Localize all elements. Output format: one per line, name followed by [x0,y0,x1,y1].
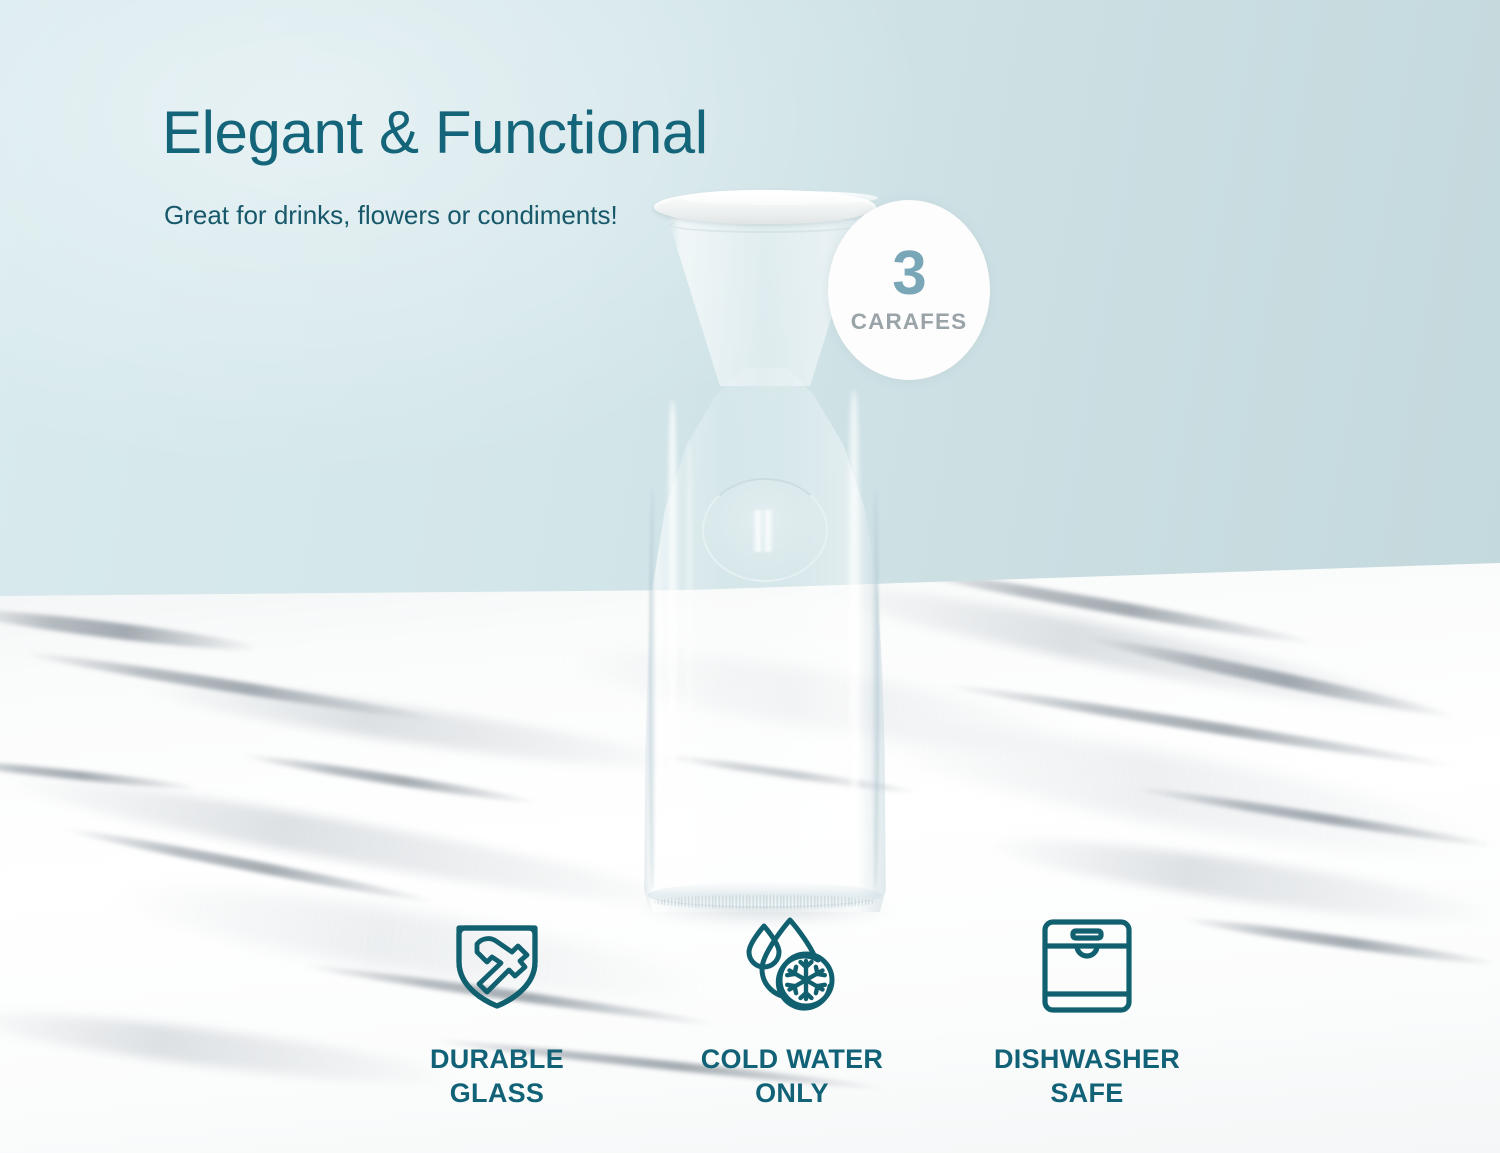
dishwasher-icon [1035,912,1139,1020]
page-title: Elegant & Functional [162,98,708,167]
feature-label: DISHWASHER SAFE [994,1042,1180,1110]
water-droplet-snowflake-icon [738,912,846,1020]
badge-label: CARAFES [851,309,967,335]
carafe-left-highlight-secondary [686,440,693,790]
white-plastic-lid [654,190,876,224]
lid-top-surface [680,191,878,205]
carafe-base-foot-texture [654,895,876,909]
feature-list: DURABLE GLASS [352,912,1232,1110]
carafe-left-edge [649,490,656,890]
feature-label: DURABLE GLASS [430,1042,564,1110]
shield-hammer-icon [445,912,549,1020]
quantity-badge: 3 CARAFES [828,200,990,380]
carafe-embossed-mark [752,510,774,552]
feature-item-cold-water-only: COLD WATER ONLY [647,912,937,1110]
carafe-left-highlight [666,400,679,830]
carafe-right-highlight [846,390,862,830]
feature-item-dishwasher-safe: DISHWASHER SAFE [942,912,1232,1110]
product-marketing-image: 3 CARAFES Elegant & Functional Great for… [0,0,1500,1153]
feature-label: COLD WATER ONLY [701,1042,883,1110]
badge-count: 3 [892,245,925,302]
carafe-body-sheen [680,590,850,880]
subtitle: Great for drinks, flowers or condiments! [164,196,618,236]
feature-item-durable-glass: DURABLE GLASS [352,912,642,1110]
carafe-right-edge [872,490,879,890]
